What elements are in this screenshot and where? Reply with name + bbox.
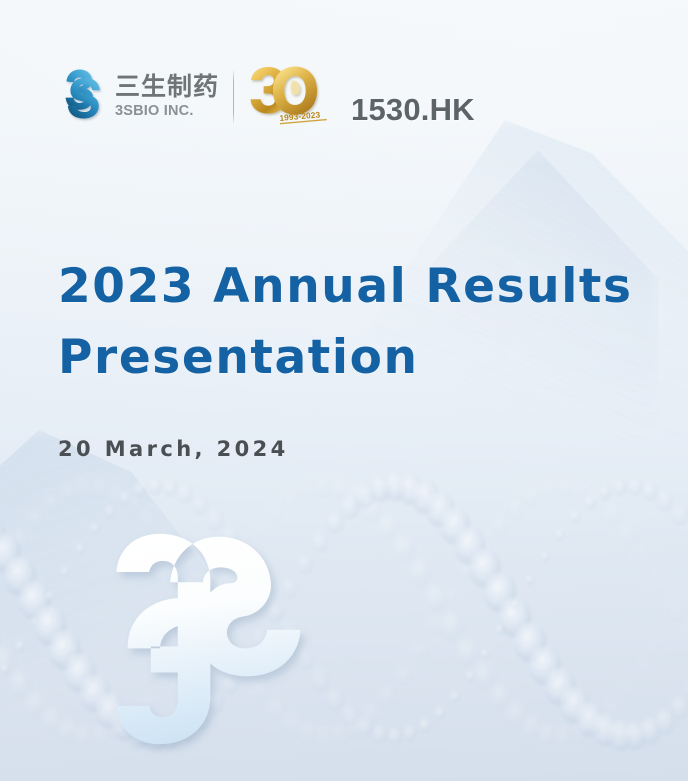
brand-name-en: 3SBIO INC. [115,102,219,120]
title-line-1: 2023 Annual Results [58,252,658,323]
stock-ticker: 1530.HK [351,92,475,132]
3s-logo-icon [58,68,106,126]
page-title: 2023 Annual Results Presentation [58,252,658,393]
brand-header: 三生制药 3SBIO INC. [58,62,475,132]
brand-name-cn: 三生制药 [115,74,219,100]
title-line-2: Presentation [58,323,658,394]
30th-anniversary-icon: 1993-2023 [247,66,333,128]
presentation-date: 20 March, 2024 [58,437,289,461]
title-slide: 三生制药 3SBIO INC. [0,0,688,781]
vertical-divider [233,69,234,125]
brand-wordmark: 三生制药 3SBIO INC. [115,69,219,125]
